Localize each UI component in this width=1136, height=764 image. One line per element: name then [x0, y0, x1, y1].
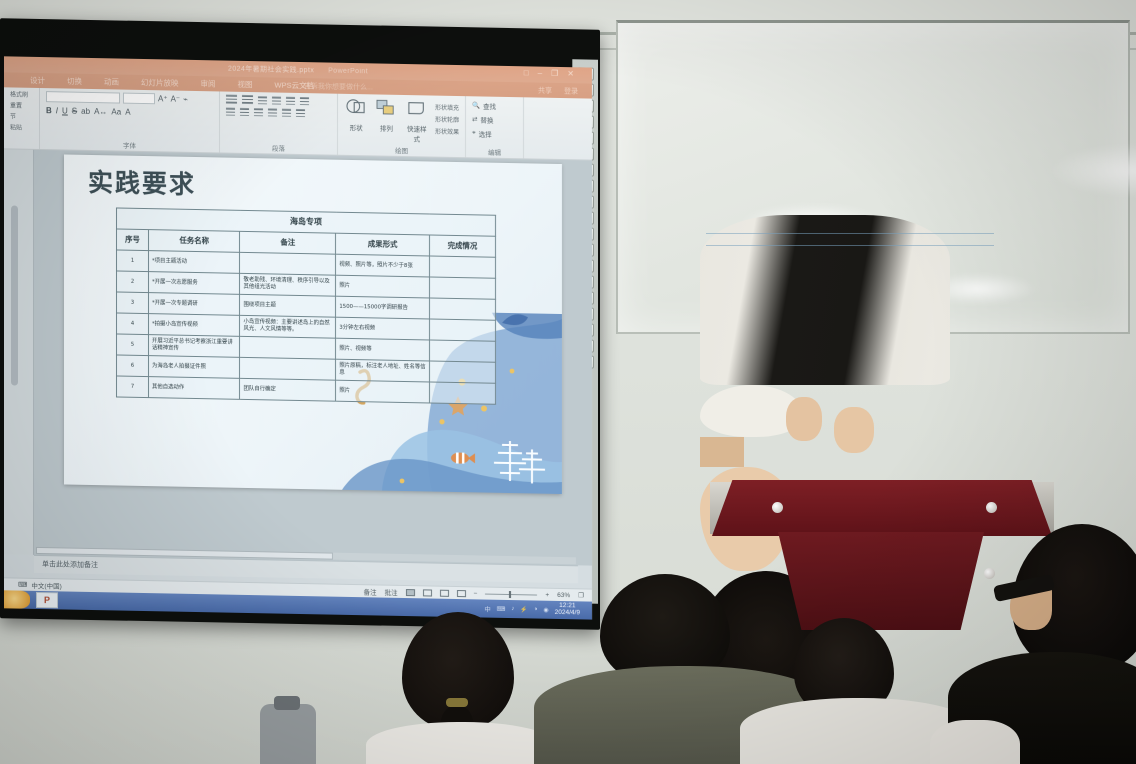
cell-task: *拍摄小岛宣传视频: [148, 314, 240, 337]
shape-outline-command[interactable]: 形状轮廓: [435, 115, 459, 124]
ribbon[interactable]: 格式刷 重置 节 粘贴 A⁺ A⁻ ⌁ B I: [4, 87, 592, 160]
table-body: 海岛专项 序号 任务名称 备注 成果形式 完成情况: [117, 208, 496, 404]
arrange-label: 排列: [374, 122, 398, 132]
cell-result: 1500——15000字调研报告: [336, 296, 430, 319]
restore-button[interactable]: ❐: [551, 69, 558, 78]
cell-result: 视频、照片等，照片不少于8张: [336, 254, 430, 277]
quick-styles-label: 快速样式: [405, 123, 429, 143]
group-label-paragraph: 段落: [220, 141, 337, 153]
classroom-background: ↺ ≡ ▣ ✎ ✐ ◌ ◉ ✦ □ ▦ ▤ ⬚ ✏ ⎘ ⎙ ⊞ ⊟ ⬒ ⬓ 20…: [0, 0, 1136, 764]
cell-note: [240, 357, 336, 380]
interactive-whiteboard-display[interactable]: ↺ ≡ ▣ ✎ ✐ ◌ ◉ ✦ □ ▦ ▤ ⬚ ✏ ⎘ ⎙ ⊞ ⊟ ⬒ ⬓ 20…: [0, 18, 600, 630]
ribbon-group-drawing[interactable]: 形状 排列 快速样式: [338, 94, 466, 157]
presenter-right-hand: [834, 407, 874, 453]
cell-note: [240, 252, 336, 275]
thumbnail-scrollbar[interactable]: [11, 205, 18, 385]
tab-review[interactable]: 审阅: [201, 78, 216, 89]
cell-no: 7: [117, 376, 149, 398]
increase-indent-icon[interactable]: [272, 96, 281, 104]
cell-result: 照片原稿，标注老人地址、姓名等信息: [336, 359, 430, 382]
cell-result: 照片: [336, 275, 430, 298]
shape-effects-command[interactable]: 形状效果: [435, 127, 459, 136]
cell-status: [429, 382, 495, 404]
shapes-icon: [345, 98, 367, 116]
presenter-left-hand: [786, 397, 822, 441]
powerpoint-icon: P: [44, 595, 50, 605]
col-header-note: 备注: [240, 231, 336, 254]
select-label: 选择: [479, 128, 492, 138]
clear-formatting-icon[interactable]: ⌁: [183, 95, 188, 104]
text-shadow-icon[interactable]: ab: [81, 107, 90, 116]
cell-note: 小岛宣传视频：主要讲述岛上的自然风光、人文风情等等。: [240, 315, 336, 338]
tab-animations[interactable]: 动画: [104, 76, 119, 87]
italic-button[interactable]: I: [56, 106, 58, 115]
section-command[interactable]: 节: [10, 111, 33, 120]
cursor-icon: ⌖: [472, 129, 476, 137]
line-spacing-icon[interactable]: [286, 96, 295, 104]
slide-canvas-area[interactable]: 实践要求: [34, 150, 592, 566]
current-slide[interactable]: 实践要求: [64, 154, 562, 494]
select-command[interactable]: ⌖ 选择: [472, 128, 517, 139]
cell-status: [429, 256, 495, 278]
tab-slideshow[interactable]: 幻灯片放映: [141, 77, 179, 89]
language-label: 中文(中国): [31, 580, 61, 591]
cell-no: 1: [117, 250, 149, 272]
minimize-button[interactable]: –: [538, 69, 542, 78]
group-label-editing: 编辑: [466, 146, 523, 157]
cell-status: [429, 361, 495, 383]
ribbon-group-editing[interactable]: 🔍 查找 ⇄ 替换 ⌖ 选择 编辑: [466, 96, 524, 158]
ribbon-display-options-icon[interactable]: □: [524, 68, 529, 77]
justify-icon[interactable]: [268, 108, 277, 116]
share-button[interactable]: 共享: [538, 85, 552, 95]
numbering-icon[interactable]: [242, 95, 253, 104]
replace-label: 替换: [480, 114, 493, 124]
cell-no: 6: [117, 355, 149, 377]
shapes-label: 形状: [344, 122, 368, 132]
find-command[interactable]: 🔍 查找: [472, 100, 517, 111]
underline-button[interactable]: U: [62, 106, 68, 115]
bold-button[interactable]: B: [46, 106, 52, 115]
ribbon-group-clipboard[interactable]: 格式刷 重置 节 粘贴: [4, 87, 40, 149]
tab-transitions[interactable]: 切换: [67, 76, 82, 87]
strikethrough-button[interactable]: S: [72, 107, 77, 116]
tab-view[interactable]: 视图: [238, 79, 253, 90]
slide-thumbnail-pane[interactable]: [4, 149, 34, 555]
col-header-result: 成果形式: [336, 233, 430, 256]
cell-task: 为海岛老人拍摄证件照: [148, 356, 240, 379]
decrease-indent-icon[interactable]: [258, 96, 267, 104]
cell-no: 4: [117, 313, 149, 335]
paste-command[interactable]: 粘贴: [10, 122, 33, 131]
presenter-hoodie: [700, 215, 950, 385]
ribbon-group-paragraph[interactable]: 段落: [220, 91, 338, 154]
font-size-input[interactable]: [123, 93, 155, 105]
audience-far-left-desk: [250, 694, 390, 764]
search-icon: 🔍: [472, 101, 480, 109]
font-name-input[interactable]: [46, 91, 120, 103]
align-left-icon[interactable]: [226, 108, 235, 116]
cell-note: 敬老助残、环境清理、秩序引导以及其他组光活动: [240, 273, 336, 296]
font-color-icon[interactable]: A: [125, 108, 130, 117]
col-header-status: 完成情况: [429, 235, 495, 257]
align-center-icon[interactable]: [240, 108, 249, 116]
increase-font-size-icon[interactable]: A⁺: [158, 94, 168, 103]
replace-command[interactable]: ⇄ 替换: [472, 114, 517, 125]
quick-styles-icon: [406, 99, 428, 117]
col-header-task: 任务名称: [148, 230, 240, 253]
audience-foreground-glasses: [960, 524, 1136, 764]
ribbon-group-font[interactable]: A⁺ A⁻ ⌁ B I U S ab A↔ Aa A 字体: [40, 88, 220, 152]
format-painter-command[interactable]: 格式刷: [10, 89, 33, 98]
character-spacing-icon[interactable]: A↔: [94, 107, 107, 116]
align-right-icon[interactable]: [254, 108, 263, 116]
document-title: 2024年暑期社会实践.pptx: [228, 64, 314, 76]
slide-title: 实践要求: [88, 163, 196, 201]
convert-smartart-icon[interactable]: [296, 109, 305, 117]
cell-result: 照片: [336, 380, 430, 403]
taskbar-powerpoint-button[interactable]: P: [36, 592, 58, 608]
app-name: PowerPoint: [328, 67, 368, 75]
cell-status: [429, 340, 495, 362]
presenter-neck: [700, 437, 744, 467]
cell-task: *开展一次专题调研: [148, 293, 240, 316]
cell-status: [429, 298, 495, 320]
cell-status: [429, 319, 495, 341]
cell-task: 开展习近平总书记考察浙江重要讲话精神宣传: [148, 335, 240, 358]
bottle-cap: [274, 696, 300, 710]
signin-button[interactable]: 登录: [564, 86, 578, 96]
cell-note: 团队自行确定: [240, 378, 336, 401]
cell-status: [429, 277, 495, 299]
shape-fill-command[interactable]: 形状填充: [435, 103, 459, 112]
water-bottle: [260, 704, 316, 764]
cell-no: 2: [117, 271, 149, 293]
change-case-icon[interactable]: Aa: [111, 107, 121, 116]
cell-task: *项目主题活动: [148, 251, 240, 274]
requirements-table[interactable]: 海岛专项 序号 任务名称 备注 成果形式 完成情况: [116, 207, 496, 404]
start-button-icon[interactable]: [4, 590, 30, 608]
tab-design[interactable]: 设计: [30, 75, 45, 86]
cell-task: *开展一次志愿服务: [148, 272, 240, 295]
podium-screw-left: [772, 502, 783, 513]
notes-toggle-button[interactable]: 备注: [364, 586, 377, 596]
group-label-font: 字体: [40, 138, 219, 151]
cell-result: 3分钟左右视频: [336, 317, 430, 340]
cell-no: 5: [117, 334, 149, 356]
cell-note: [240, 336, 336, 359]
cell-task: 其他自选动作: [148, 377, 240, 400]
tell-me-search[interactable]: 告诉我你想要做什么...: [304, 81, 373, 92]
powerpoint-window[interactable]: 2024年暑期社会实践.pptx PowerPoint □ – ❐ ✕ 设计 切…: [4, 56, 592, 619]
columns-icon[interactable]: [282, 109, 291, 117]
text-direction-icon[interactable]: [300, 97, 309, 105]
bullets-icon[interactable]: [226, 95, 237, 104]
col-header-no: 序号: [117, 229, 149, 251]
language-indicator[interactable]: ⌨ 中文(中国): [18, 580, 62, 591]
replace-icon: ⇄: [472, 115, 477, 123]
hair-tie: [446, 698, 468, 707]
slide-workspace[interactable]: 实践要求: [4, 149, 592, 565]
podium-screw-right: [986, 502, 997, 513]
close-button[interactable]: ✕: [567, 69, 574, 78]
reset-command[interactable]: 重置: [10, 100, 33, 109]
cell-result: 照片、视频等: [336, 338, 430, 361]
cell-no: 3: [117, 292, 149, 314]
arrange-icon: [375, 98, 397, 116]
decrease-font-size-icon[interactable]: A⁻: [171, 95, 181, 104]
language-icon: ⌨: [18, 581, 27, 589]
find-label: 查找: [483, 101, 496, 111]
cell-note: 围绕项目主题: [240, 294, 336, 317]
